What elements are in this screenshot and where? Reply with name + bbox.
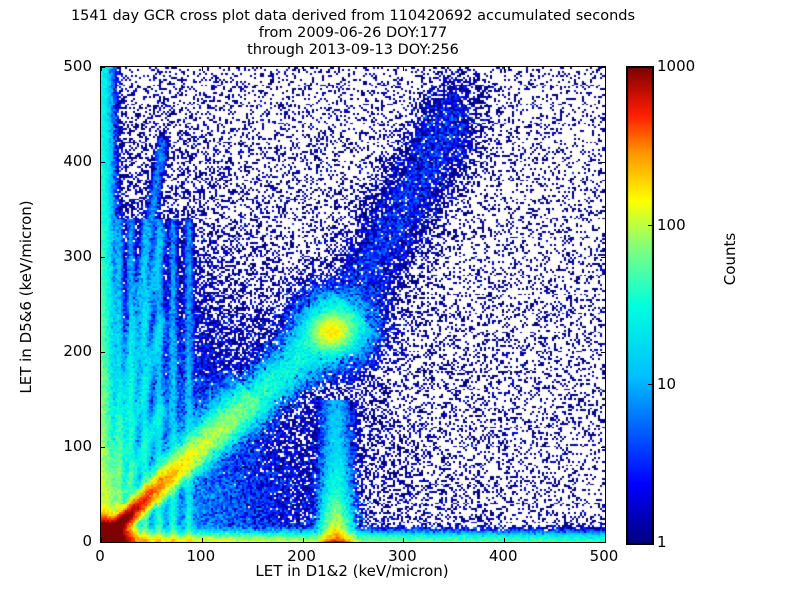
y-tick-500: [100, 67, 105, 68]
y-tick-300: [100, 257, 105, 258]
plot-axes: [100, 66, 606, 543]
y-tick-right-300: [601, 257, 606, 258]
y-tick-label-200: 200: [40, 342, 92, 360]
colorbar-tick-label-1000: 1000: [657, 57, 695, 75]
x-axis-label: LET in D1&2 (keV/micron): [100, 562, 604, 580]
y-tick-label-400: 400: [40, 152, 92, 170]
x-tick-top-300: [403, 66, 404, 71]
x-tick-100: [202, 538, 203, 543]
colorbar-tick-label-100: 100: [657, 216, 686, 234]
colorbar-tick-label-10: 10: [657, 375, 676, 393]
x-tick-top-400: [504, 66, 505, 71]
y-tick-right-0: [601, 542, 606, 543]
y-tick-label-300: 300: [40, 247, 92, 265]
y-tick-right-400: [601, 162, 606, 163]
x-tick-300: [403, 538, 404, 543]
colorbar-tick-100: [648, 225, 653, 226]
y-axis-label: LET in D5&6 (keV/micron): [17, 137, 35, 457]
x-tick-top-200: [303, 66, 304, 71]
y-tick-100: [100, 447, 105, 448]
y-tick-200: [100, 352, 105, 353]
y-tick-400: [100, 162, 105, 163]
colorbar-tick-label-1: 1: [657, 533, 667, 551]
x-tick-top-100: [202, 66, 203, 71]
colorbar-tick-10: [648, 384, 653, 385]
colorbar-label: Counts: [721, 159, 739, 359]
y-tick-right-500: [601, 67, 606, 68]
title-line-2: from 2009-06-26 DOY:177: [0, 25, 706, 42]
y-tick-0: [100, 542, 105, 543]
heatmap-scatter: [101, 67, 605, 542]
colorbar: 1101001000: [626, 66, 652, 543]
y-tick-label-100: 100: [40, 437, 92, 455]
title-line-1: 1541 day GCR cross plot data derived fro…: [0, 8, 706, 25]
plot-title: 1541 day GCR cross plot data derived fro…: [0, 8, 706, 59]
figure-canvas: 1541 day GCR cross plot data derived fro…: [0, 0, 800, 600]
title-line-3: through 2013-09-13 DOY:256: [0, 42, 706, 59]
x-tick-400: [504, 538, 505, 543]
colorbar-gradient: [626, 66, 654, 545]
y-tick-right-200: [601, 352, 606, 353]
y-tick-right-100: [601, 447, 606, 448]
x-tick-200: [303, 538, 304, 543]
y-tick-label-500: 500: [40, 57, 92, 75]
y-tick-label-0: 0: [40, 532, 92, 550]
